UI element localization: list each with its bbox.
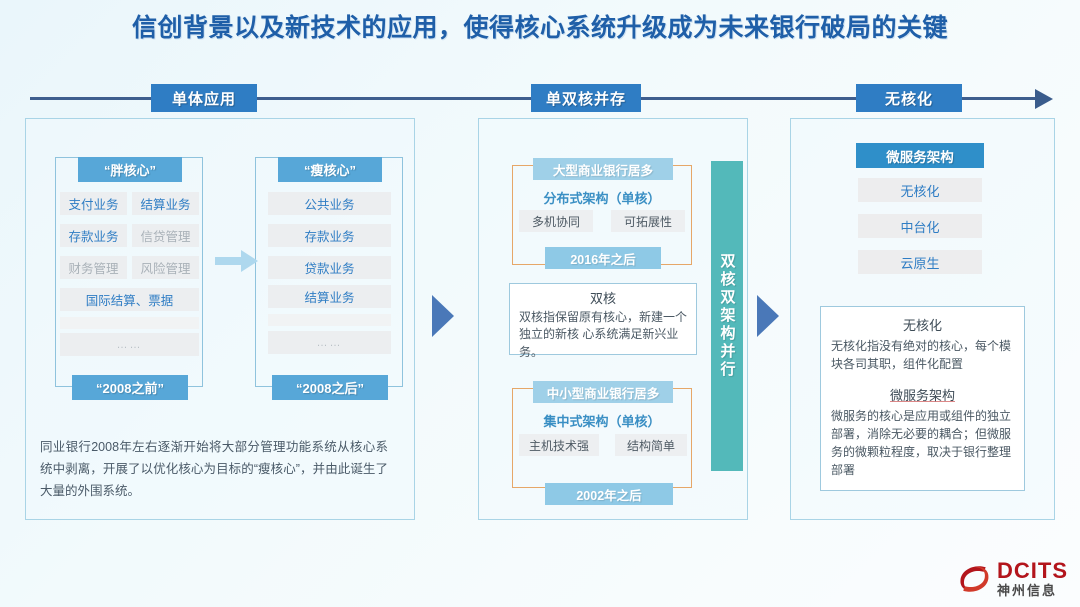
- fat-core-item[interactable]: 结算业务: [132, 192, 199, 215]
- dual-core-body: 双核指保留原有核心，新建一个独立的新核 心系统满足新兴业务。: [510, 307, 696, 361]
- small-bank-architecture: 集中式架构（单核）: [512, 411, 692, 430]
- thin-core-item[interactable]: 存款业务: [268, 224, 391, 247]
- fat-core-item[interactable]: 信贷管理: [132, 224, 199, 247]
- thin-core-item[interactable]: 公共业务: [268, 192, 391, 215]
- page-title: 信创背景以及新技术的应用，使得核心系统升级成为未来银行破局的关键: [0, 8, 1080, 44]
- timeline-stage-coreless[interactable]: 无核化: [856, 84, 962, 112]
- dcits-swirl-icon: [956, 561, 992, 597]
- stage-transition-arrow-icon-2: [757, 295, 779, 337]
- logo-en-text: DCITS: [997, 560, 1068, 582]
- coreless-title-2: 微服务架构: [821, 385, 1024, 404]
- large-bank-tag[interactable]: 可拓展性: [611, 210, 685, 232]
- dcits-logo-text: DCITS 神州信息: [997, 560, 1068, 597]
- thin-core-item[interactable]: 结算业务: [268, 285, 391, 308]
- coreless-body-2: 微服务的核心是应用或组件的独立部署，消除无必要的耦合；但微服务的微颗粒程度，取决…: [821, 404, 1024, 479]
- timeline-stage-dual-core[interactable]: 单双核并存: [531, 84, 641, 112]
- fat-core-period: “2008之前”: [72, 375, 188, 400]
- microservice-architecture-title: 微服务架构: [856, 143, 984, 168]
- dual-core-parallel-label: 双核双架构并行: [717, 253, 738, 379]
- large-bank-architecture: 分布式架构（单核）: [512, 188, 692, 207]
- timeline: 单体应用 单双核并存 无核化: [0, 84, 1080, 114]
- fat-core-item[interactable]: 存款业务: [60, 224, 127, 247]
- single-app-description: 同业银行2008年左右逐渐开始将大部分管理功能系统从核心系统中剥离，开展了以优化…: [40, 437, 388, 503]
- thin-core-item-spacer: [268, 314, 391, 326]
- stage-transition-arrow-icon-1: [432, 295, 454, 337]
- dual-core-definition-box: 双核 双核指保留原有核心，新建一个独立的新核 心系统满足新兴业务。: [509, 283, 697, 355]
- dual-core-parallel-bar: 双核双架构并行: [711, 161, 743, 471]
- thin-core-item-ellipsis: ……: [268, 331, 391, 354]
- fat-core-item-spacer: [60, 317, 199, 329]
- small-bank-period: 2002年之后: [545, 483, 673, 505]
- fat-to-thin-arrow-icon: [215, 248, 259, 274]
- large-bank-title: 大型商业银行居多: [533, 158, 673, 180]
- timeline-stage-single-app[interactable]: 单体应用: [151, 84, 257, 112]
- fat-core-item[interactable]: 财务管理: [60, 256, 127, 279]
- fat-core-item[interactable]: 支付业务: [60, 192, 127, 215]
- coreless-item[interactable]: 无核化: [858, 178, 982, 202]
- thin-core-item[interactable]: 贷款业务: [268, 256, 391, 279]
- small-bank-title: 中小型商业银行居多: [533, 381, 673, 403]
- coreless-title-1: 无核化: [821, 315, 1024, 334]
- large-bank-tag[interactable]: 多机协同: [519, 210, 593, 232]
- small-bank-tag[interactable]: 结构简单: [615, 434, 687, 456]
- small-bank-tag[interactable]: 主机技术强: [519, 434, 599, 456]
- coreless-item[interactable]: 云原生: [858, 250, 982, 274]
- logo-cn-text: 神州信息: [997, 584, 1068, 597]
- fat-core-title: “胖核心”: [78, 157, 182, 182]
- dual-core-title: 双核: [510, 284, 696, 307]
- fat-core-item-ellipsis: ……: [60, 333, 199, 356]
- fat-core-item[interactable]: 国际结算、票据: [60, 288, 199, 311]
- fat-core-item[interactable]: 风险管理: [132, 256, 199, 279]
- timeline-arrow-icon: [1035, 89, 1053, 109]
- coreless-body-1: 无核化指没有绝对的核心，每个模块各司其职，组件化配置: [821, 334, 1024, 373]
- coreless-definition-box: 无核化 无核化指没有绝对的核心，每个模块各司其职，组件化配置 微服务架构 微服务…: [820, 306, 1025, 491]
- thin-core-period: “2008之后”: [272, 375, 388, 400]
- large-bank-period: 2016年之后: [545, 247, 661, 269]
- slide-title-bar: 信创背景以及新技术的应用，使得核心系统升级成为未来银行破局的关键: [0, 8, 1080, 44]
- dcits-logo: DCITS 神州信息: [956, 560, 1068, 597]
- thin-core-title: “瘦核心”: [278, 157, 382, 182]
- coreless-item[interactable]: 中台化: [858, 214, 982, 238]
